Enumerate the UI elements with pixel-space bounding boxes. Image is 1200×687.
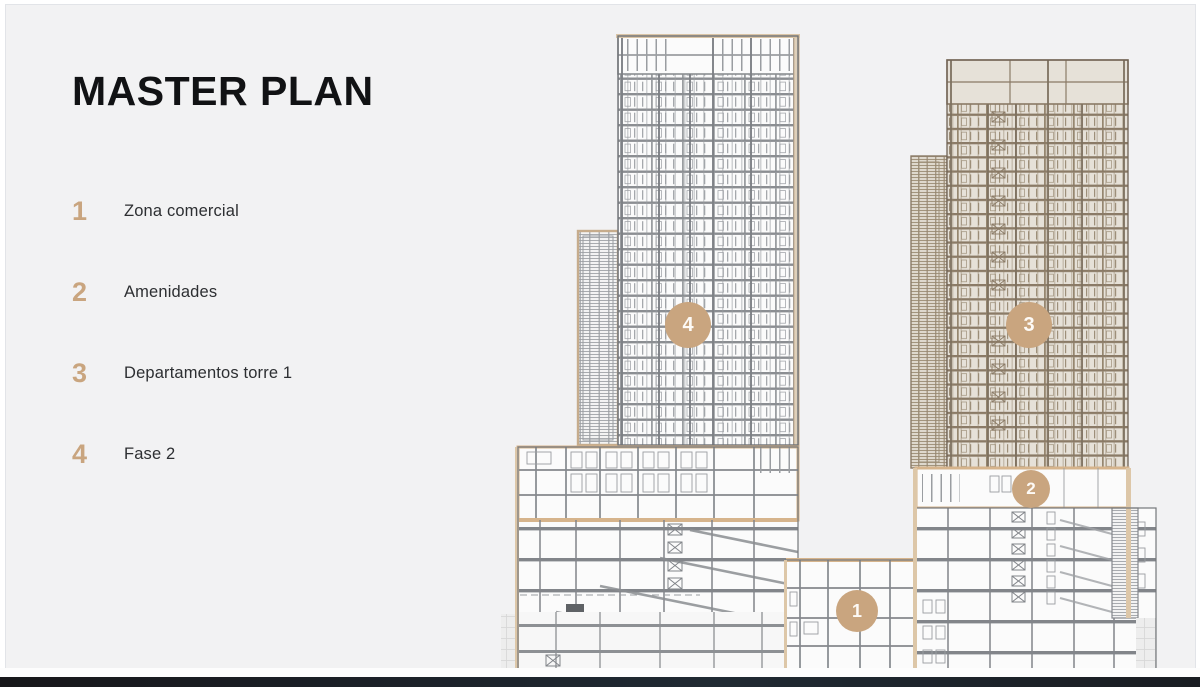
map-marker-1[interactable]: 1 — [836, 590, 878, 632]
podium-left — [501, 447, 798, 670]
map-marker-4[interactable]: 4 — [665, 302, 711, 348]
tower-phase-2-side-wing — [578, 231, 618, 445]
tower-phase-2 — [578, 34, 800, 445]
viewer-bottom-bar — [0, 677, 1200, 687]
presentation-slide: MASTER PLAN 1 Zona comercial 2 Amenidade… — [0, 0, 1200, 687]
ground-extension-right — [1136, 618, 1156, 670]
map-marker-3[interactable]: 3 — [1006, 302, 1052, 348]
map-marker-2[interactable]: 2 — [1012, 470, 1050, 508]
slide-bottom-margin — [0, 668, 1200, 677]
tower-1 — [911, 60, 1128, 468]
tower-1-side-wing — [911, 156, 947, 468]
